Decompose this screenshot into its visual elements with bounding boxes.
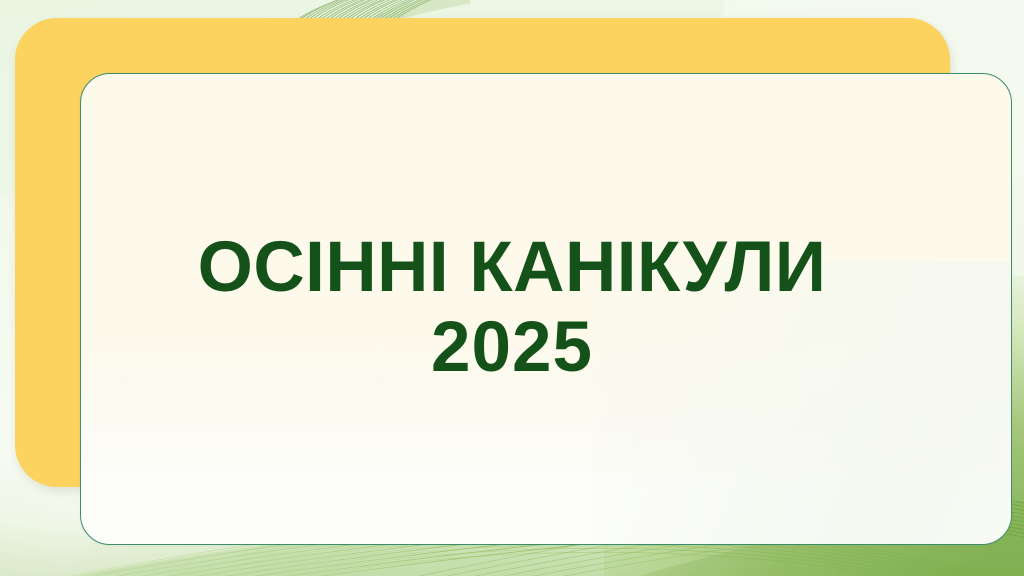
presentation-slide: ОСІННІ КАНІКУЛИ 2025 [0, 0, 1024, 576]
card-sheen-highlight [593, 262, 1013, 545]
content-card [80, 73, 1012, 545]
